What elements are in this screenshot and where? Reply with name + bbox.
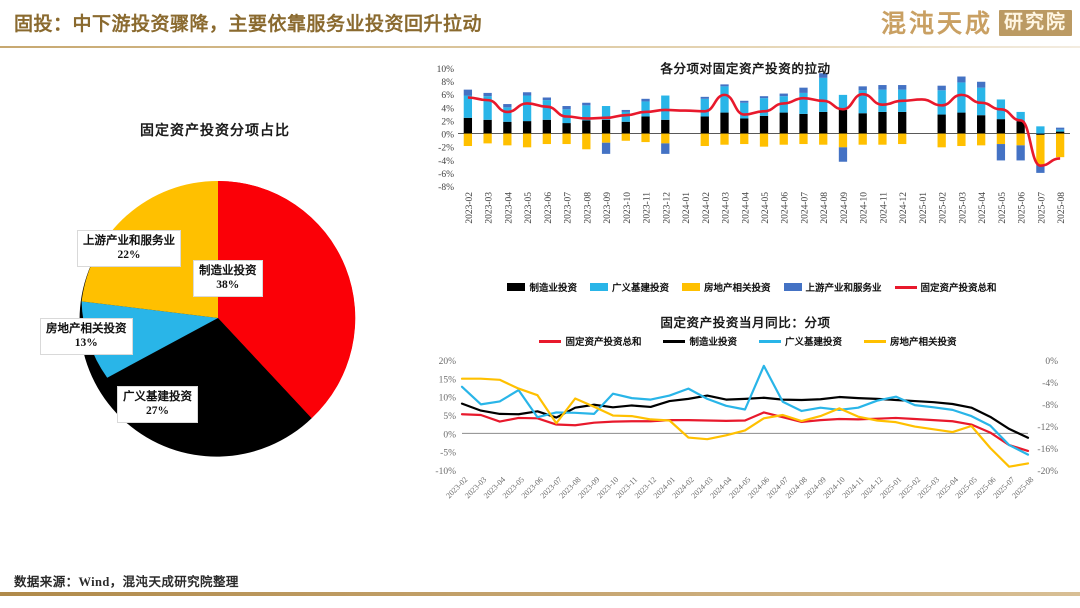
pie-label-upstream-pct: 22% (83, 248, 175, 262)
bar-segment[interactable] (1016, 145, 1024, 160)
bar-segment[interactable] (878, 85, 886, 90)
legend-label: 固定资产投资总和 (565, 334, 641, 348)
bar-segment[interactable] (720, 84, 728, 86)
bar-segment[interactable] (938, 134, 946, 148)
bar-segment[interactable] (957, 77, 965, 83)
legend-item-广义基建投资[interactable]: 广义基建投资 (759, 334, 842, 348)
line-series-房地产相关投资[interactable] (462, 379, 1028, 467)
line-chart-panel: 固定资产投资当月同比：分项 固定资产投资总和制造业投资广义基建投资房地产相关投资… (418, 312, 1073, 570)
bar-segment[interactable] (483, 134, 491, 144)
line-x-tick: 2025-08 (1010, 475, 1035, 500)
bar-x-tick: 2024-08 (820, 192, 830, 224)
bar-segment[interactable] (562, 123, 570, 133)
pie-label-realestate-name: 房地产相关投资 (46, 322, 127, 336)
bar-segment[interactable] (661, 143, 669, 153)
footer-divider (0, 592, 1080, 596)
legend-item-固定资产投资总和[interactable]: 固定资产投资总和 (539, 334, 641, 348)
line-y-tick-left: -5% (440, 449, 456, 459)
bar-y-tick: -8% (438, 183, 454, 193)
bar-segment[interactable] (503, 134, 511, 146)
bar-segment[interactable] (1056, 132, 1064, 134)
bar-x-tick: 2023-03 (485, 192, 495, 224)
bar-segment[interactable] (523, 121, 531, 133)
legend-swatch (864, 340, 886, 343)
line-chart-legend: 固定资产投资总和制造业投资广义基建投资房地产相关投资 (488, 334, 1008, 348)
bar-segment[interactable] (602, 120, 610, 134)
bar-segment[interactable] (938, 115, 946, 134)
pie-label-infrastructure-name: 广义基建投资 (123, 390, 192, 404)
bar-segment[interactable] (543, 98, 551, 101)
bar-x-tick: 2023-04 (504, 192, 514, 224)
legend-swatch (539, 340, 561, 343)
bar-segment[interactable] (503, 104, 511, 107)
bar-x-tick: 2024-05 (761, 192, 771, 224)
bar-y-tick: 6% (441, 91, 454, 101)
bar-segment[interactable] (997, 134, 1005, 144)
bar-segment[interactable] (780, 134, 788, 145)
bar-segment[interactable] (839, 147, 847, 161)
bar-segment[interactable] (523, 92, 531, 95)
bar-segment[interactable] (819, 112, 827, 134)
pie-label-infrastructure: 广义基建投资 27% (117, 386, 198, 423)
bar-segment[interactable] (622, 112, 630, 122)
legend-swatch (784, 283, 802, 291)
legend-label: 广义基建投资 (612, 280, 669, 294)
line-y-tick-left: 0% (443, 430, 456, 440)
bar-segment[interactable] (898, 112, 906, 134)
bar-segment[interactable] (819, 134, 827, 145)
pie-label-realestate-pct: 13% (46, 336, 127, 350)
line-y-tick-left: 10% (439, 394, 457, 404)
bar-segment[interactable] (859, 134, 867, 145)
bar-chart-title: 各分项对固定资产投资的拉动 (418, 58, 1073, 77)
bar-segment[interactable] (543, 120, 551, 134)
bar-x-tick: 2025-01 (919, 192, 929, 224)
legend-label: 房地产相关投资 (704, 280, 771, 294)
bar-segment[interactable] (464, 134, 472, 146)
bar-segment[interactable] (1036, 134, 1044, 135)
bar-x-tick: 2024-04 (741, 192, 751, 224)
bar-chart-legend: 制造业投资广义基建投资房地产相关投资上游产业和服务业固定资产投资总和 (432, 280, 1072, 294)
line-y-tick-right: -4% (1042, 379, 1058, 389)
line-y-tick-right: -12% (1037, 423, 1058, 433)
bar-segment[interactable] (839, 134, 847, 148)
bar-segment[interactable] (562, 134, 570, 144)
bar-segment[interactable] (878, 134, 886, 145)
bar-segment[interactable] (582, 120, 590, 133)
line-y-tick-right: -20% (1037, 467, 1058, 477)
bar-y-tick: 2% (441, 117, 454, 127)
legend-item-上游产业和服务业[interactable]: 上游产业和服务业 (784, 280, 882, 294)
bar-segment[interactable] (503, 122, 511, 134)
bar-x-tick: 2023-05 (524, 192, 534, 224)
bar-segment[interactable] (760, 116, 768, 134)
bar-y-tick: -4% (438, 157, 454, 167)
bar-segment[interactable] (1036, 135, 1044, 165)
bar-y-tick: -2% (438, 144, 454, 154)
bar-segment[interactable] (582, 103, 590, 106)
bar-segment[interactable] (720, 113, 728, 134)
bar-segment[interactable] (720, 134, 728, 145)
bar-segment[interactable] (1016, 134, 1024, 146)
bar-segment[interactable] (799, 134, 807, 144)
bar-x-tick: 2023-02 (465, 192, 475, 224)
bar-segment[interactable] (760, 98, 768, 116)
pie-chart-title: 固定资产投资分项占比 (20, 120, 410, 140)
legend-label: 房地产相关投资 (890, 334, 957, 348)
bar-segment[interactable] (464, 90, 472, 96)
bar-x-tick: 2024-07 (800, 192, 810, 224)
bar-x-tick: 2025-06 (1018, 192, 1028, 224)
bar-segment[interactable] (622, 122, 630, 134)
bar-segment[interactable] (701, 134, 709, 146)
bar-segment[interactable] (977, 134, 985, 146)
legend-label: 固定资产投资总和 (921, 280, 997, 294)
legend-label: 制造业投资 (529, 280, 577, 294)
bar-segment[interactable] (957, 134, 965, 146)
line-chart-svg: 20%15%10%5%0%-5%-10%0%-4%-8%-12%-16%-20%… (418, 352, 1073, 567)
legend-item-房地产相关投资[interactable]: 房地产相关投资 (682, 280, 771, 294)
bar-segment[interactable] (464, 118, 472, 134)
bar-x-tick: 2023-10 (623, 192, 633, 224)
line-y-tick-left: 20% (439, 357, 457, 367)
bar-chart-svg: 10%8%6%4%2%0%-2%-4%-6%-8%2023-022023-032… (418, 58, 1073, 273)
bar-segment[interactable] (661, 120, 669, 134)
bar-x-tick: 2024-09 (840, 192, 850, 224)
legend-swatch (507, 283, 525, 291)
page-header: 固投：中下游投资骤降，主要依靠服务业投资回升拉动 混沌天成 研究院 (0, 0, 1080, 46)
legend-item-制造业投资[interactable]: 制造业投资 (507, 280, 577, 294)
bar-segment[interactable] (661, 134, 669, 144)
bar-segment[interactable] (543, 100, 551, 120)
bar-segment[interactable] (483, 93, 491, 96)
bar-segment[interactable] (641, 134, 649, 143)
brand-name: 混沌天成 (881, 11, 993, 36)
bar-segment[interactable] (859, 113, 867, 133)
bar-segment[interactable] (760, 96, 768, 98)
pie-chart-panel: 固定资产投资分项占比 制造业投资 38% 广义基建投资 27% 房地产相关投资 … (20, 120, 410, 520)
bar-segment[interactable] (523, 96, 531, 122)
bar-segment[interactable] (1056, 128, 1064, 130)
bar-segment[interactable] (780, 94, 788, 97)
legend-item-制造业投资[interactable]: 制造业投资 (663, 334, 737, 348)
page-title: 固投：中下游投资骤降，主要依靠服务业投资回升拉动 (14, 9, 482, 36)
bar-segment[interactable] (819, 78, 827, 112)
line-y-tick-right: -8% (1042, 401, 1058, 411)
bar-segment[interactable] (997, 119, 1005, 133)
bar-x-tick: 2025-08 (1057, 192, 1067, 224)
bar-segment[interactable] (977, 115, 985, 133)
bar-segment[interactable] (641, 99, 649, 102)
bar-x-tick: 2024-01 (682, 192, 692, 224)
bar-segment[interactable] (898, 85, 906, 90)
bar-segment[interactable] (799, 88, 807, 93)
bar-segment[interactable] (701, 97, 709, 99)
bar-segment[interactable] (740, 134, 748, 144)
bar-chart-panel: 各分项对固定资产投资的拉动 10%8%6%4%2%0%-2%-4%-6%-8%2… (418, 58, 1073, 308)
bar-segment[interactable] (582, 134, 590, 150)
bar-segment[interactable] (977, 82, 985, 88)
bar-segment[interactable] (799, 93, 807, 114)
bar-segment[interactable] (602, 143, 610, 154)
bar-segment[interactable] (483, 120, 491, 134)
bar-segment[interactable] (641, 117, 649, 134)
bar-x-tick: 2024-10 (860, 192, 870, 224)
bar-x-tick: 2023-08 (583, 192, 593, 224)
pie-label-manufacturing-pct: 38% (199, 278, 257, 292)
bar-x-tick: 2025-07 (1037, 192, 1047, 224)
bar-x-tick: 2024-12 (899, 192, 909, 224)
bar-segment[interactable] (543, 134, 551, 144)
legend-item-广义基建投资[interactable]: 广义基建投资 (590, 280, 669, 294)
bar-segment[interactable] (1056, 130, 1064, 132)
bar-segment[interactable] (641, 101, 649, 116)
bar-segment[interactable] (957, 82, 965, 112)
legend-label: 上游产业和服务业 (806, 280, 882, 294)
bar-segment[interactable] (997, 144, 1005, 160)
bar-x-tick: 2023-06 (544, 192, 554, 224)
legend-label: 广义基建投资 (785, 334, 842, 348)
bar-x-tick: 2025-03 (958, 192, 968, 224)
bar-segment[interactable] (701, 117, 709, 134)
pie-label-realestate: 房地产相关投资 13% (40, 318, 133, 355)
bar-segment[interactable] (602, 134, 610, 143)
legend-item-固定资产投资总和[interactable]: 固定资产投资总和 (895, 280, 997, 294)
bar-segment[interactable] (661, 96, 669, 120)
pie-label-infrastructure-pct: 27% (123, 404, 192, 418)
header-divider (0, 46, 1080, 48)
pie-label-manufacturing: 制造业投资 38% (193, 260, 263, 297)
pie-label-manufacturing-name: 制造业投资 (199, 264, 257, 278)
bar-y-tick: -6% (438, 170, 454, 180)
line-y-tick-right: 0% (1045, 357, 1058, 367)
bar-segment[interactable] (938, 86, 946, 91)
bar-segment[interactable] (740, 118, 748, 133)
bar-x-tick: 2024-03 (722, 192, 732, 224)
line-y-tick-left: 15% (439, 375, 457, 385)
bar-x-tick: 2025-02 (939, 192, 949, 224)
bar-segment[interactable] (1036, 126, 1044, 133)
bar-segment[interactable] (799, 114, 807, 134)
bar-x-tick: 2023-09 (603, 192, 613, 224)
pie-label-upstream-name: 上游产业和服务业 (83, 234, 175, 248)
line-y-tick-left: -10% (435, 467, 456, 477)
bar-segment[interactable] (562, 106, 570, 109)
bar-x-tick: 2025-05 (998, 192, 1008, 224)
legend-swatch (759, 340, 781, 343)
pie-label-upstream: 上游产业和服务业 22% (77, 230, 181, 267)
bar-x-tick: 2024-02 (702, 192, 712, 224)
bar-x-tick: 2023-07 (564, 192, 574, 224)
bar-y-tick: 8% (441, 78, 454, 88)
bar-y-tick: 4% (441, 104, 454, 114)
bar-segment[interactable] (839, 110, 847, 134)
bar-segment[interactable] (622, 134, 630, 141)
bar-x-tick: 2024-11 (879, 192, 889, 224)
legend-item-房地产相关投资[interactable]: 房地产相关投资 (864, 334, 957, 348)
bar-y-tick: 0% (441, 131, 454, 141)
bar-segment[interactable] (957, 113, 965, 134)
line-y-tick-right: -16% (1037, 445, 1058, 455)
bar-segment[interactable] (898, 134, 906, 144)
legend-swatch (682, 283, 700, 291)
bar-segment[interactable] (1056, 134, 1064, 158)
bar-segment[interactable] (701, 99, 709, 117)
bar-segment[interactable] (622, 110, 630, 112)
bar-segment[interactable] (938, 90, 946, 114)
bar-segment[interactable] (878, 90, 886, 112)
brand-logo: 混沌天成 研究院 (881, 6, 1072, 40)
bar-x-tick: 2024-06 (781, 192, 791, 224)
legend-swatch (590, 283, 608, 291)
bar-segment[interactable] (760, 134, 768, 147)
bar-segment[interactable] (720, 86, 728, 112)
bar-segment[interactable] (523, 134, 531, 148)
bar-segment[interactable] (780, 113, 788, 134)
legend-swatch (663, 340, 685, 343)
bar-segment[interactable] (859, 86, 867, 90)
bar-segment[interactable] (878, 112, 886, 134)
bar-segment[interactable] (503, 107, 511, 121)
bar-x-tick: 2023-12 (662, 192, 672, 224)
legend-label: 制造业投资 (689, 334, 737, 348)
line-chart-title: 固定资产投资当月同比：分项 (418, 312, 1073, 331)
bar-segment[interactable] (740, 103, 748, 119)
bar-x-tick: 2023-11 (643, 192, 653, 224)
legend-swatch (895, 286, 917, 289)
line-y-tick-left: 5% (443, 412, 456, 422)
bar-segment[interactable] (740, 101, 748, 103)
brand-seal: 研究院 (999, 10, 1072, 36)
bar-x-tick: 2025-04 (978, 192, 988, 224)
source-note: 数据来源：Wind，混沌天成研究院整理 (14, 571, 239, 590)
